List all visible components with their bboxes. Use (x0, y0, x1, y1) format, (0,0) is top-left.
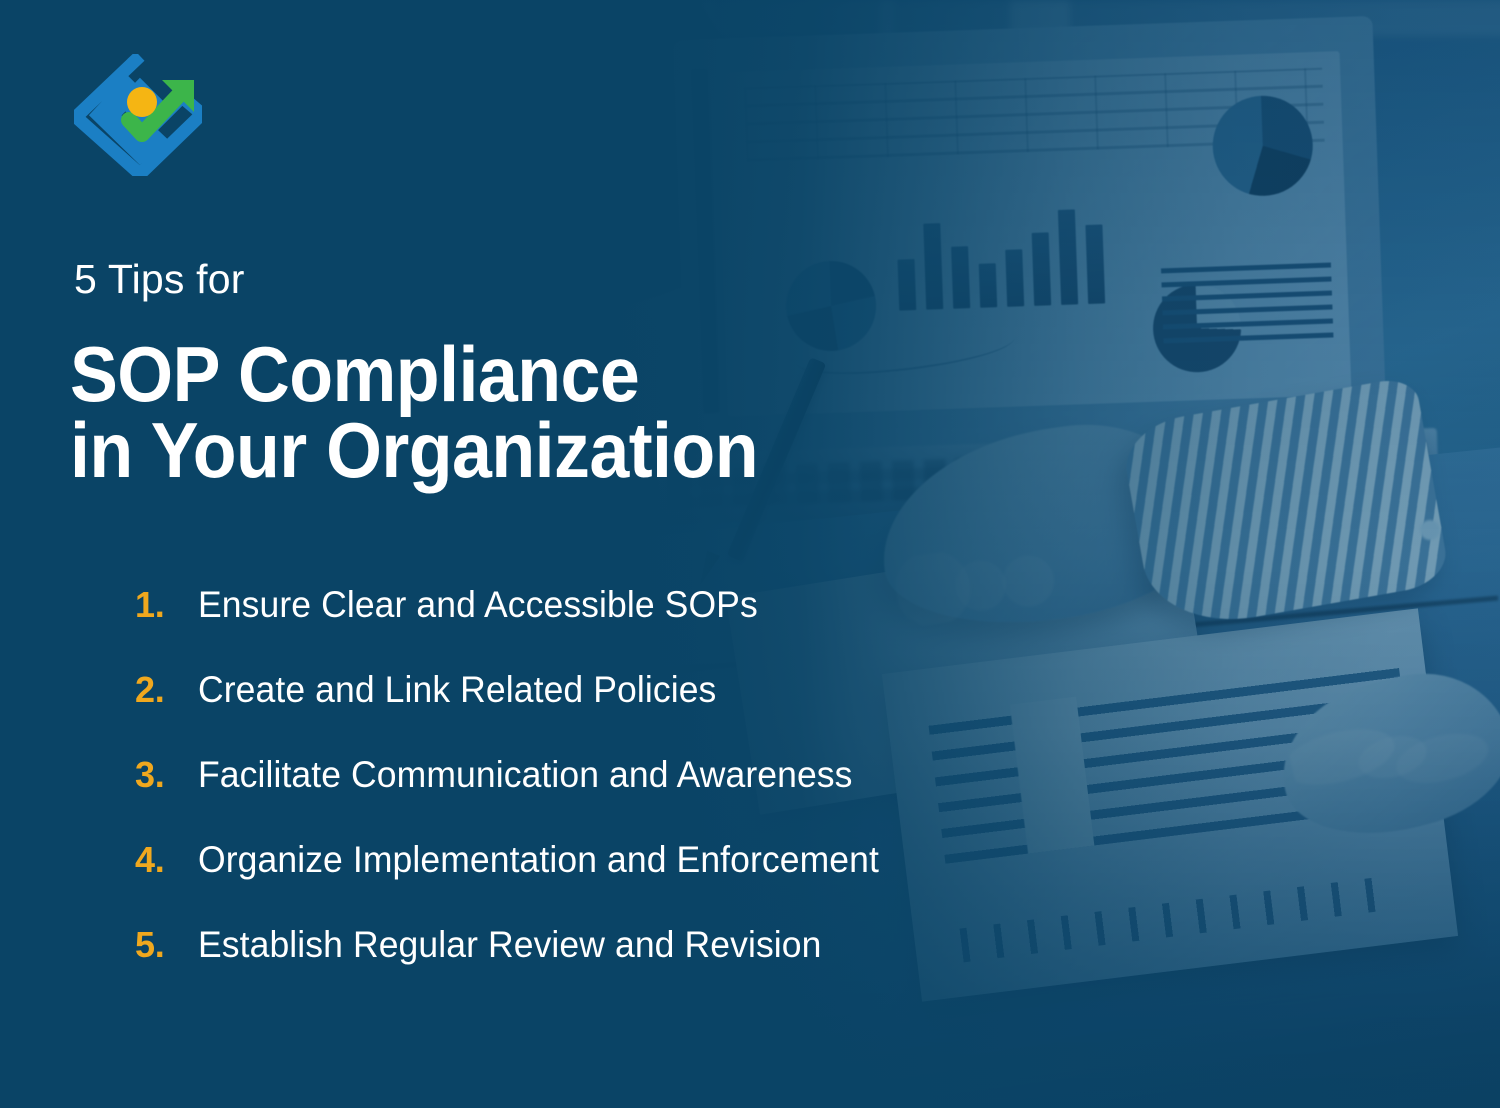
list-item: 1. Ensure Clear and Accessible SOPs (135, 586, 1135, 671)
list-item-number: 4. (135, 842, 198, 878)
list-item-number: 5. (135, 927, 198, 963)
page-title: SOP Compliance in Your Organization (70, 336, 953, 489)
logo-dot-yellow (127, 87, 157, 117)
list-item-number: 3. (135, 757, 198, 793)
list-item-label: Create and Link Related Policies (198, 671, 716, 708)
list-item: 5. Establish Regular Review and Revision (135, 926, 1135, 1011)
list-item-number: 2. (135, 672, 198, 708)
page-title-line-2: in Your Organization (70, 412, 953, 488)
eyebrow-text: 5 Tips for (74, 259, 245, 300)
list-item-label: Ensure Clear and Accessible SOPs (198, 586, 758, 623)
list-item-number: 1. (135, 587, 198, 623)
company-logo[interactable] (74, 54, 202, 176)
list-item-label: Establish Regular Review and Revision (198, 926, 821, 963)
list-item-label: Organize Implementation and Enforcement (198, 841, 879, 878)
list-item: 4. Organize Implementation and Enforceme… (135, 841, 1135, 926)
list-item: 3. Facilitate Communication and Awarenes… (135, 756, 1135, 841)
list-item: 2. Create and Link Related Policies (135, 671, 1135, 756)
infographic-canvas: 5 Tips for SOP Compliance in Your Organi… (0, 0, 1500, 1108)
tips-list: 1. Ensure Clear and Accessible SOPs 2. C… (135, 586, 1135, 1011)
page-title-line-1: SOP Compliance (70, 336, 953, 412)
list-item-label: Facilitate Communication and Awareness (198, 756, 853, 793)
